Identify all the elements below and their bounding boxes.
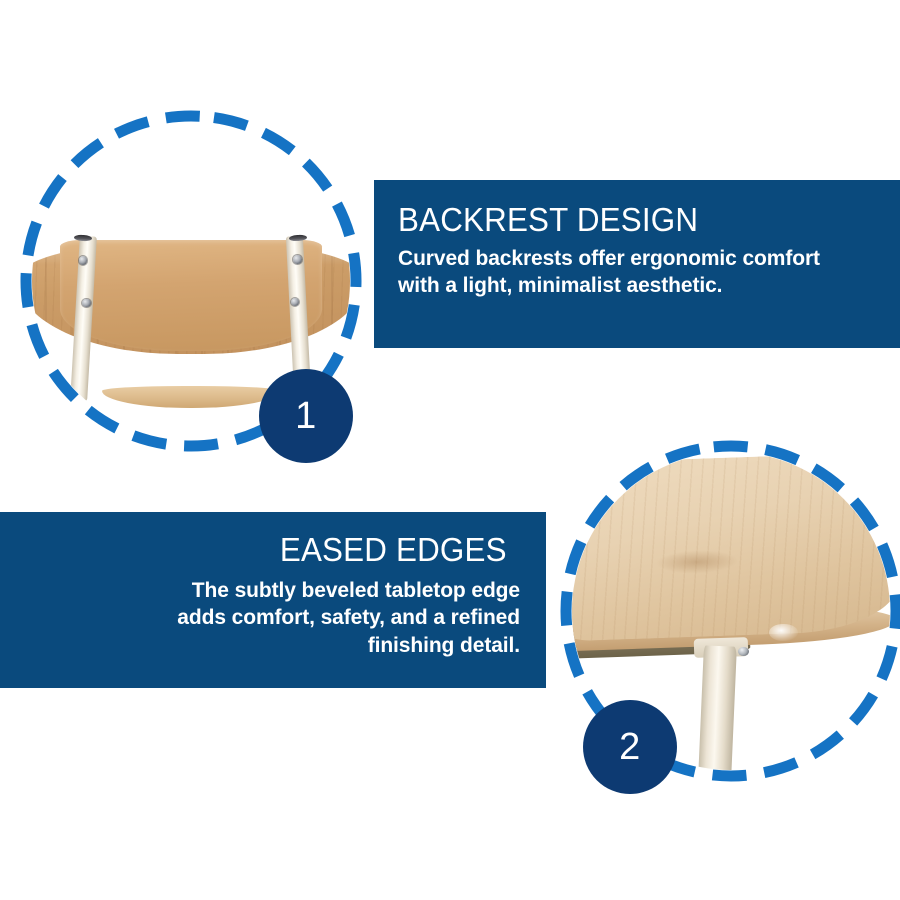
seat-slat: [102, 386, 280, 408]
bolt-icon: [293, 255, 302, 264]
feature-2-text-panel: EASED EDGES The subtly beveled tabletop …: [0, 512, 546, 688]
edge-highlight: [769, 624, 798, 641]
feature-2-description-line: The subtly beveled tabletop edge: [192, 579, 520, 602]
feature-1-number-badge: 1: [259, 369, 353, 463]
feature-1-description-line: with a light, minimalist aesthetic.: [398, 274, 722, 297]
table-leg: [698, 645, 737, 770]
feature-1-description-line: Curved backrests offer ergonomic comfort: [398, 247, 820, 270]
screw-icon: [738, 647, 749, 657]
badge-number: 1: [295, 397, 317, 435]
feature-2-description-line: finishing detail.: [368, 634, 520, 657]
tabletop-surface: [572, 452, 890, 642]
bolt-icon: [82, 299, 91, 308]
feature-2-number-badge: 2: [583, 700, 677, 794]
feature-1-title: BACKREST DESIGN: [398, 202, 860, 238]
feature-1-description: Curved backrests offer ergonomic comfort…: [398, 245, 884, 300]
bolt-icon: [79, 256, 88, 265]
feature-2-title: EASED EDGES: [20, 532, 520, 568]
feature-2-description: The subtly beveled tabletop edge adds co…: [0, 577, 520, 660]
badge-number: 2: [619, 728, 641, 766]
feature-1-text-panel: BACKREST DESIGN Curved backrests offer e…: [374, 180, 900, 348]
feature-2-description-line: adds comfort, safety, and a refined: [177, 606, 520, 629]
